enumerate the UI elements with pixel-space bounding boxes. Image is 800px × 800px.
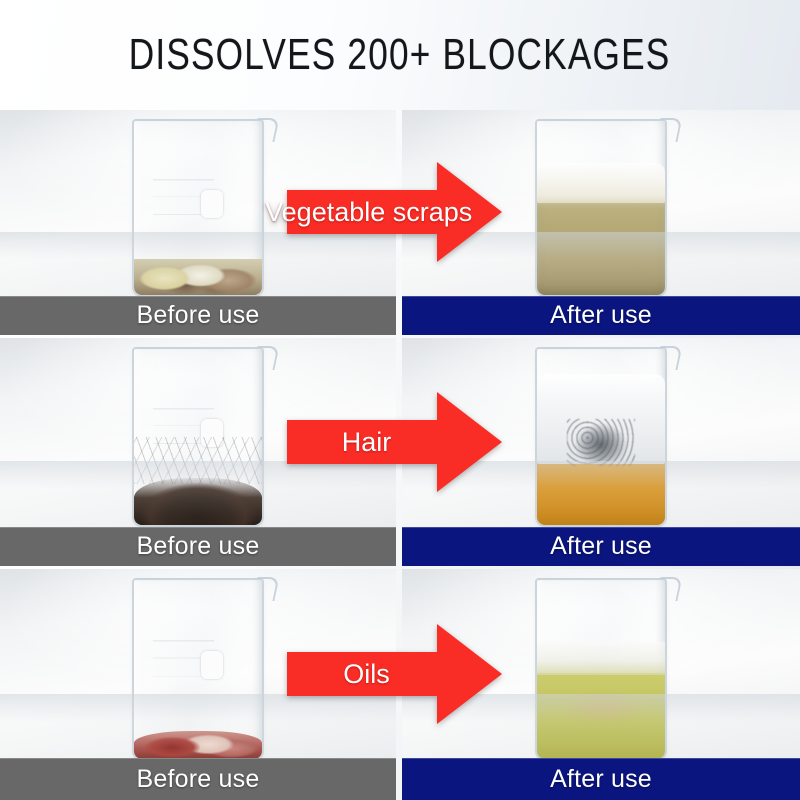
page-title: DISSOLVES 200+ BLOCKAGES [129, 30, 671, 80]
beaker-surface-layer [537, 642, 665, 675]
beaker-foam-layer [537, 163, 665, 202]
before-use-label: Before use [137, 301, 260, 330]
before-use-band: Before use [0, 758, 396, 800]
beaker-contents-meat-fat [134, 731, 262, 758]
beaker-icon [535, 578, 667, 760]
beaker-contents-hair-clump [134, 478, 262, 525]
beaker-hair-strands [134, 437, 262, 484]
beaker-icon [132, 578, 264, 760]
beaker-icon [132, 119, 264, 297]
comparison-grid: Before use After use [0, 110, 800, 800]
comparison-row: Before use After use [0, 110, 800, 335]
beaker-icon [132, 347, 264, 527]
before-use-label: Before use [137, 532, 260, 561]
before-use-band: Before use [0, 296, 396, 335]
transformation-arrow: Hair [287, 390, 502, 494]
infographic-page: DISSOLVES 200+ BLOCKAGES Before use [0, 0, 800, 800]
beaker-spout [655, 577, 682, 601]
beaker-sticker [201, 190, 223, 218]
beaker-spout [252, 577, 279, 601]
beaker-sticker [201, 651, 223, 679]
beaker-icon [535, 119, 667, 297]
beaker-contents-vegetable-scraps [134, 259, 262, 295]
after-use-label: After use [550, 301, 652, 330]
comparison-row: Before use After use [0, 569, 800, 800]
beaker-contents-beige-liquid [537, 201, 665, 295]
transformation-arrow: Vegetable scraps [287, 160, 502, 264]
header-banner: DISSOLVES 200+ BLOCKAGES [0, 0, 800, 110]
beaker-contents-amber-liquid [537, 462, 665, 525]
beaker-residue-specks [567, 419, 636, 466]
beaker-spout [655, 118, 682, 142]
after-use-band: After use [402, 296, 800, 335]
beaker-spout [252, 118, 279, 142]
before-use-band: Before use [0, 527, 396, 566]
after-use-band: After use [402, 758, 800, 800]
transformation-arrow: Oils [287, 622, 502, 726]
beaker-spout [655, 346, 682, 370]
after-use-label: After use [550, 532, 652, 561]
comparison-row: Before use After use [0, 338, 800, 566]
beaker-icon [535, 347, 667, 527]
beaker-contents-yellow-green-oil [537, 673, 665, 759]
after-use-label: After use [550, 765, 652, 794]
after-use-band: After use [402, 527, 800, 566]
before-use-label: Before use [137, 765, 260, 794]
beaker-spout [252, 346, 279, 370]
